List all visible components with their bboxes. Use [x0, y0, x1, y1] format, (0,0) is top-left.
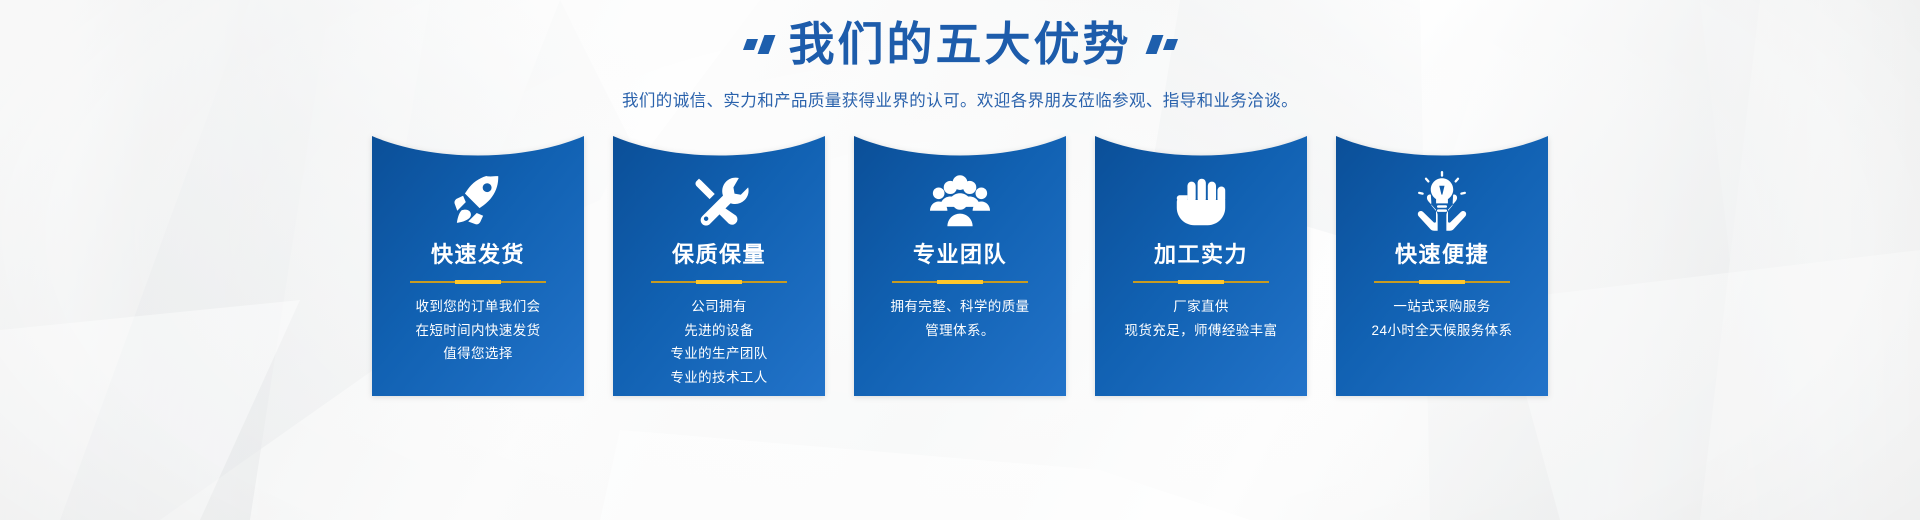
divider-line-right [1224, 281, 1269, 283]
divider-line-right [1465, 281, 1510, 283]
card-content: 保质保量 公司拥有 先进的设备 专业的生产团队 专业的技术工人 [613, 136, 825, 396]
divider-highlight [455, 280, 501, 284]
team-people-icon [927, 170, 993, 232]
card-description-line: 现货充足，师傅经验丰富 [1125, 321, 1278, 341]
slash-mark [1145, 35, 1163, 54]
divider-highlight [1178, 280, 1224, 284]
card-divider [1374, 280, 1510, 284]
card-description-line: 拥有完整、科学的质量 [891, 297, 1030, 317]
card-description-line: 值得您选择 [443, 344, 513, 364]
advantage-card[interactable]: 专业团队 拥有完整、科学的质量 管理体系。 [854, 136, 1066, 396]
divider-line-right [742, 281, 787, 283]
slash-mark [757, 35, 775, 54]
card-description-line: 24小时全天候服务体系 [1372, 321, 1513, 341]
slash-mark [742, 39, 757, 50]
card-title: 快速便捷 [1395, 243, 1489, 267]
card-divider [651, 280, 787, 284]
advantage-card-list: 快速发货 收到您的订单我们会 在短时间内快速发货 值得您选择 [0, 136, 1920, 396]
advantage-card[interactable]: 保质保量 公司拥有 先进的设备 专业的生产团队 专业的技术工人 [613, 136, 825, 396]
divider-line-left [651, 281, 696, 283]
card-divider [410, 280, 546, 284]
card-description-line: 一站式采购服务 [1393, 297, 1490, 317]
divider-highlight [696, 280, 742, 284]
card-content: 快速发货 收到您的订单我们会 在短时间内快速发货 值得您选择 [372, 136, 584, 396]
card-description: 收到您的订单我们会 在短时间内快速发货 值得您选择 [411, 297, 544, 364]
advantage-card[interactable]: 加工实力 厂家直供 现货充足，师傅经验丰富 [1095, 136, 1307, 396]
card-title: 保质保量 [672, 243, 766, 267]
divider-line-left [892, 281, 937, 283]
advantage-card[interactable]: 快速发货 收到您的订单我们会 在短时间内快速发货 值得您选择 [372, 136, 584, 396]
divider-line-right [501, 281, 546, 283]
card-content: 快速便捷 一站式采购服务 24小时全天候服务体系 [1336, 136, 1548, 396]
slash-decor-right-icon [1149, 35, 1176, 54]
card-content: 专业团队 拥有完整、科学的质量 管理体系。 [854, 136, 1066, 396]
divider-highlight [937, 280, 983, 284]
hands-lightbulb-icon [1409, 170, 1475, 232]
card-description-line: 厂家直供 [1173, 297, 1229, 317]
page-title: 我们的五大优势 [789, 18, 1132, 71]
title-row: 我们的五大优势 [0, 18, 1920, 71]
page-subtitle: 我们的诚信、实力和产品质量获得业界的认可。欢迎各界朋友莅临参观、指导和业务洽谈。 [0, 87, 1920, 111]
card-description: 拥有完整、科学的质量 管理体系。 [887, 297, 1034, 340]
card-description-line: 在短时间内快速发货 [415, 321, 540, 341]
fist-icon [1168, 170, 1234, 232]
divider-line-left [1374, 281, 1419, 283]
card-divider [1133, 280, 1269, 284]
slash-decor-left-icon [745, 35, 772, 54]
card-description: 厂家直供 现货充足，师傅经验丰富 [1121, 297, 1282, 340]
section-header: 我们的五大优势 我们的诚信、实力和产品质量获得业界的认可。欢迎各界朋友莅临参观、… [0, 0, 1920, 111]
card-description-line: 公司拥有 [691, 297, 747, 317]
card-title: 专业团队 [913, 243, 1007, 267]
card-description-line: 收到您的订单我们会 [415, 297, 540, 317]
divider-line-right [983, 281, 1028, 283]
rocket-icon [445, 170, 511, 232]
slash-mark [1162, 39, 1177, 50]
divider-highlight [1419, 280, 1465, 284]
card-description-line: 先进的设备 [684, 321, 754, 341]
card-description-line: 管理体系。 [925, 321, 995, 341]
card-title: 快速发货 [431, 243, 525, 267]
wrench-screwdriver-icon [686, 170, 752, 232]
card-divider [892, 280, 1028, 284]
card-description-line: 专业的技术工人 [670, 368, 767, 388]
divider-line-left [1133, 281, 1178, 283]
card-content: 加工实力 厂家直供 现货充足，师傅经验丰富 [1095, 136, 1307, 396]
divider-line-left [410, 281, 455, 283]
card-description: 公司拥有 先进的设备 专业的生产团队 专业的技术工人 [666, 297, 771, 387]
card-description-line: 专业的生产团队 [670, 344, 767, 364]
card-description: 一站式采购服务 24小时全天候服务体系 [1368, 297, 1517, 340]
advantage-card[interactable]: 快速便捷 一站式采购服务 24小时全天候服务体系 [1336, 136, 1548, 396]
card-title: 加工实力 [1154, 243, 1248, 267]
